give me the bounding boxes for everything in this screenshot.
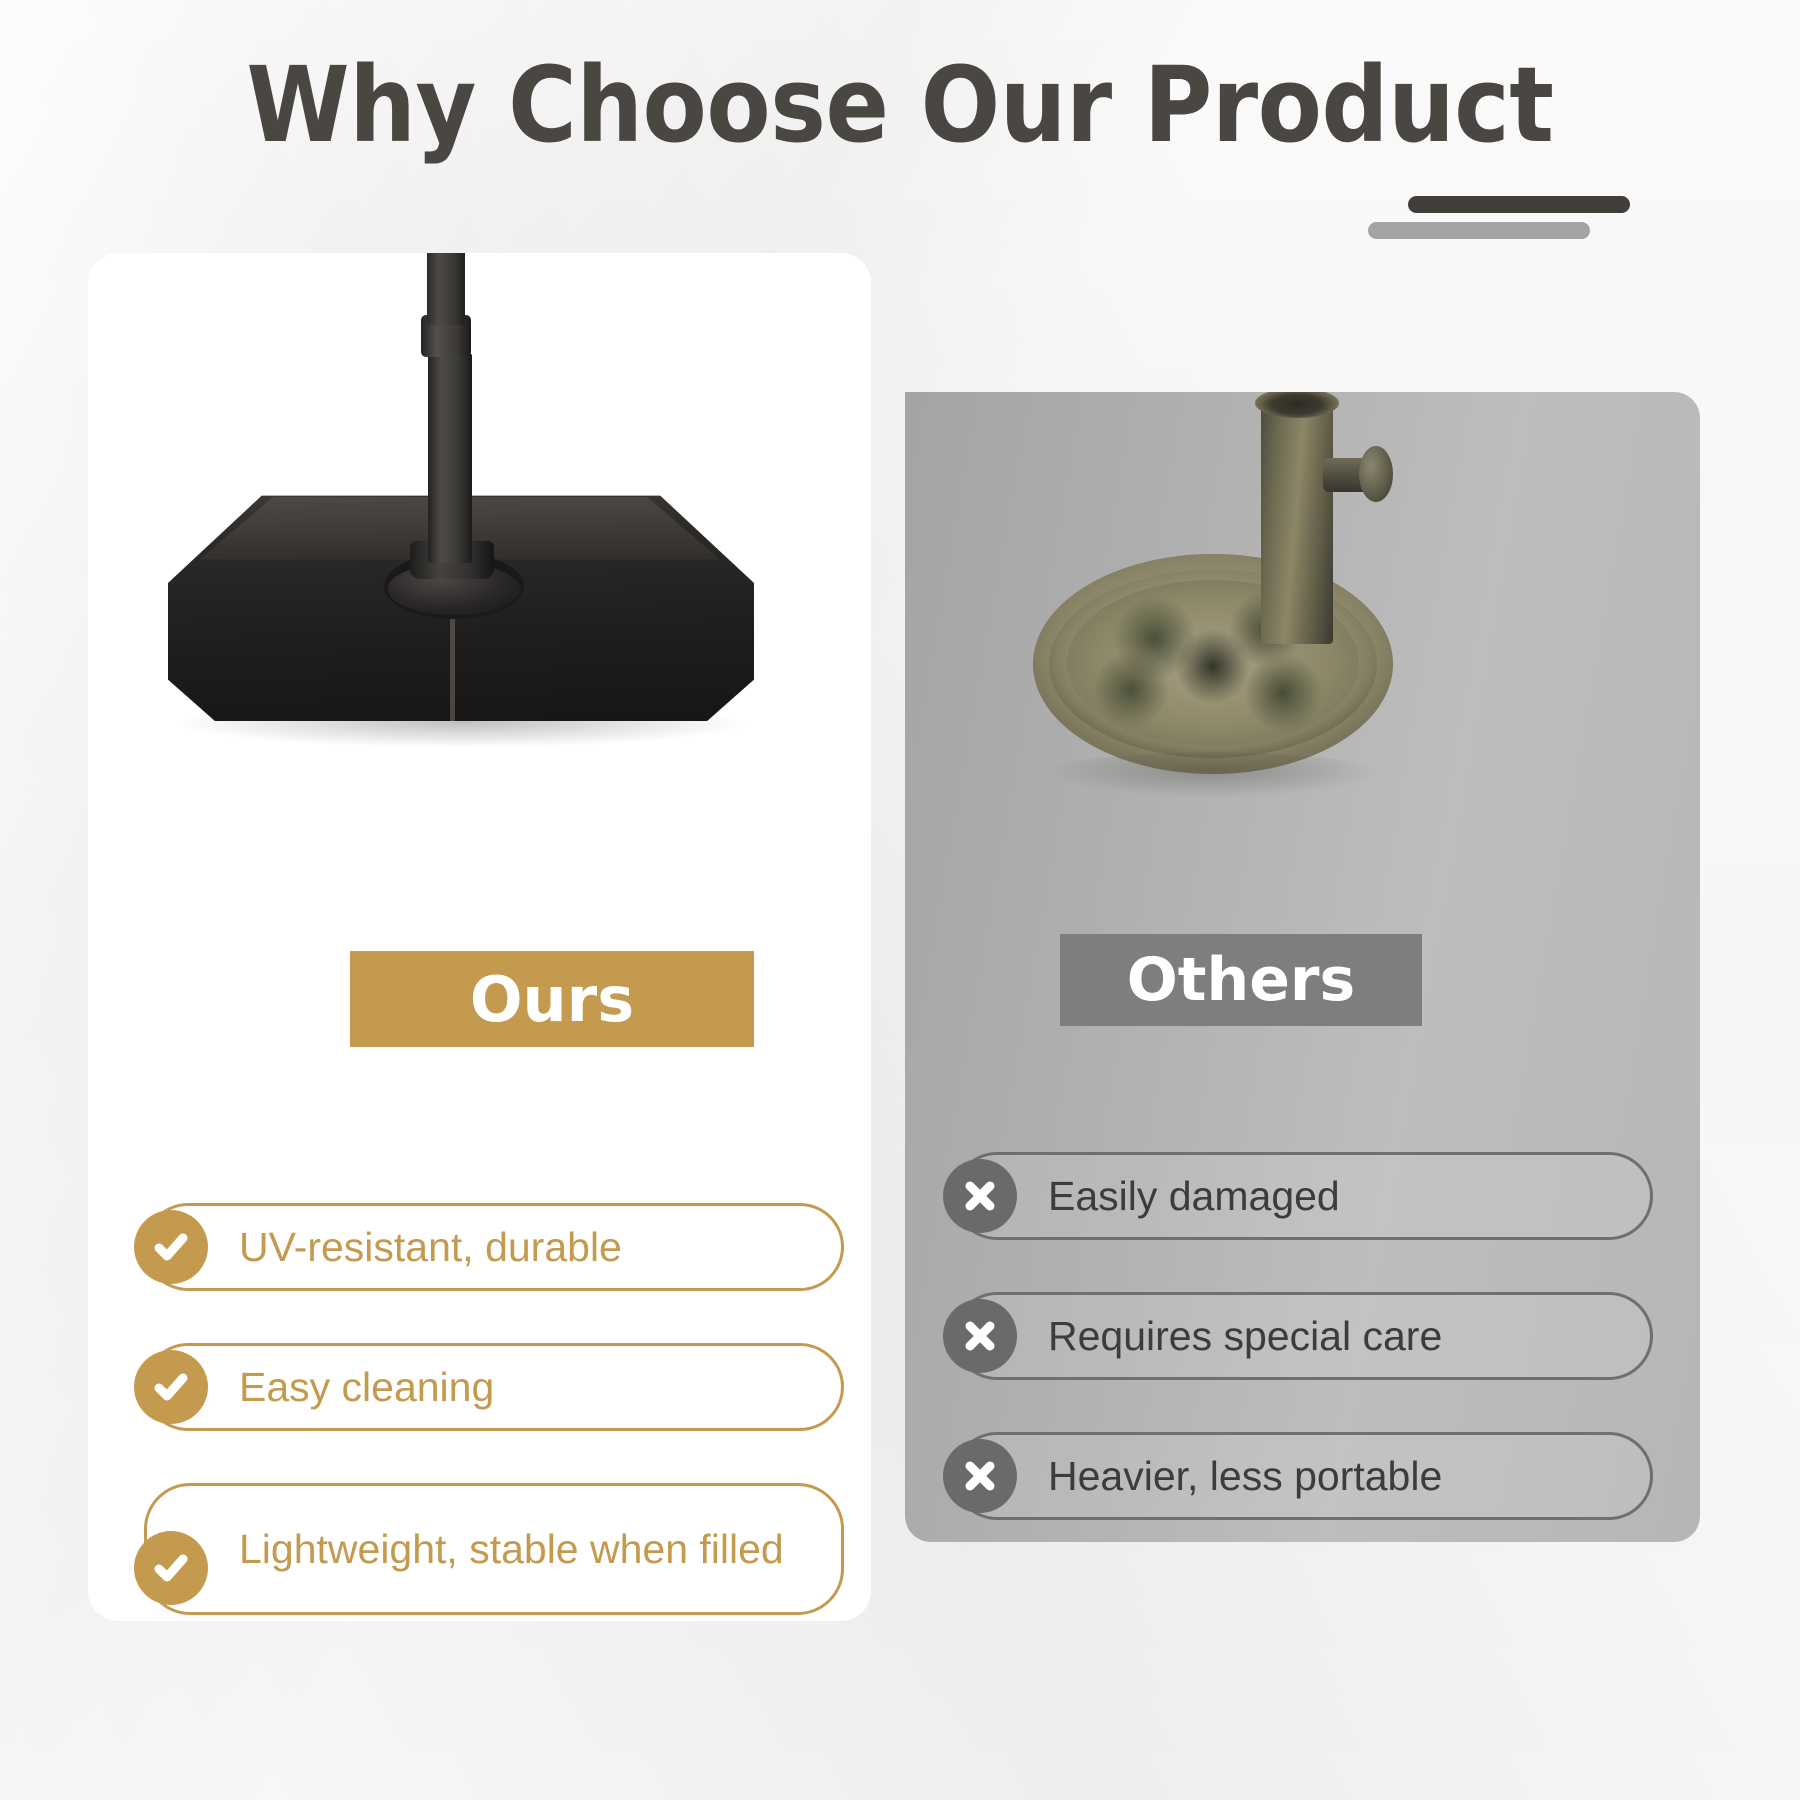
iron-base-rim: [1033, 554, 1393, 774]
pole-lower-section: [428, 353, 472, 563]
ours-feature-label: Easy cleaning: [239, 1362, 494, 1412]
iron-base-knob-head: [1359, 446, 1393, 502]
cross-icon: [943, 1439, 1017, 1513]
others-panel-content: Others Easily damaged: [905, 392, 1700, 1542]
others-feature-row: Requires special care: [953, 1292, 1653, 1380]
check-icon: [134, 1210, 208, 1284]
ours-feature-row: Lightweight, stable when filled: [144, 1483, 844, 1615]
others-feature-label: Requires special care: [1048, 1311, 1442, 1361]
ours-card: Ours UV-resistant, durable: [88, 253, 871, 1621]
ours-feature-pill: UV-resistant, durable: [144, 1203, 844, 1291]
page-title: Why Choose Our Product: [90, 48, 1710, 162]
decorative-bar-dark: [1408, 196, 1630, 213]
others-feature-label: Easily damaged: [1048, 1171, 1340, 1221]
others-feature-row: Easily damaged: [953, 1152, 1653, 1240]
others-feature-pill: Requires special care: [953, 1292, 1653, 1380]
others-feature-pill: Easily damaged: [953, 1152, 1653, 1240]
pole-upper-section: [427, 253, 465, 325]
infographic-canvas: Why Choose Our Product Others: [0, 0, 1800, 1800]
others-panel: Others Easily damaged: [905, 392, 1700, 1542]
ours-feature-row: Easy cleaning: [144, 1343, 844, 1431]
others-feature-row: Heavier, less portable: [953, 1432, 1653, 1520]
others-feature-list: Easily damaged Requires special care: [953, 1152, 1653, 1542]
check-icon: [134, 1531, 208, 1605]
ours-badge-label: Ours: [470, 963, 634, 1036]
others-feature-pill: Heavier, less portable: [953, 1432, 1653, 1520]
iron-base-shadow: [1045, 752, 1381, 798]
others-badge: Others: [1060, 934, 1422, 1026]
others-badge-label: Others: [1127, 945, 1355, 1015]
others-product-image: [1023, 392, 1583, 902]
ours-feature-row: UV-resistant, durable: [144, 1203, 844, 1291]
ours-feature-list: UV-resistant, durable Easy cleaning: [144, 1203, 844, 1621]
decorative-bar-light: [1368, 222, 1590, 239]
ours-feature-pill: Easy cleaning: [144, 1343, 844, 1431]
cross-icon: [943, 1159, 1017, 1233]
ours-feature-label: Lightweight, stable when filled: [239, 1524, 784, 1574]
others-feature-label: Heavier, less portable: [1048, 1451, 1442, 1501]
ours-feature-label: UV-resistant, durable: [239, 1222, 622, 1272]
ours-feature-pill: Lightweight, stable when filled: [144, 1483, 844, 1615]
ours-product-image: [88, 253, 871, 819]
cross-icon: [943, 1299, 1017, 1373]
iron-base-tube: [1261, 394, 1333, 644]
ours-badge: Ours: [350, 951, 754, 1047]
check-icon: [134, 1350, 208, 1424]
